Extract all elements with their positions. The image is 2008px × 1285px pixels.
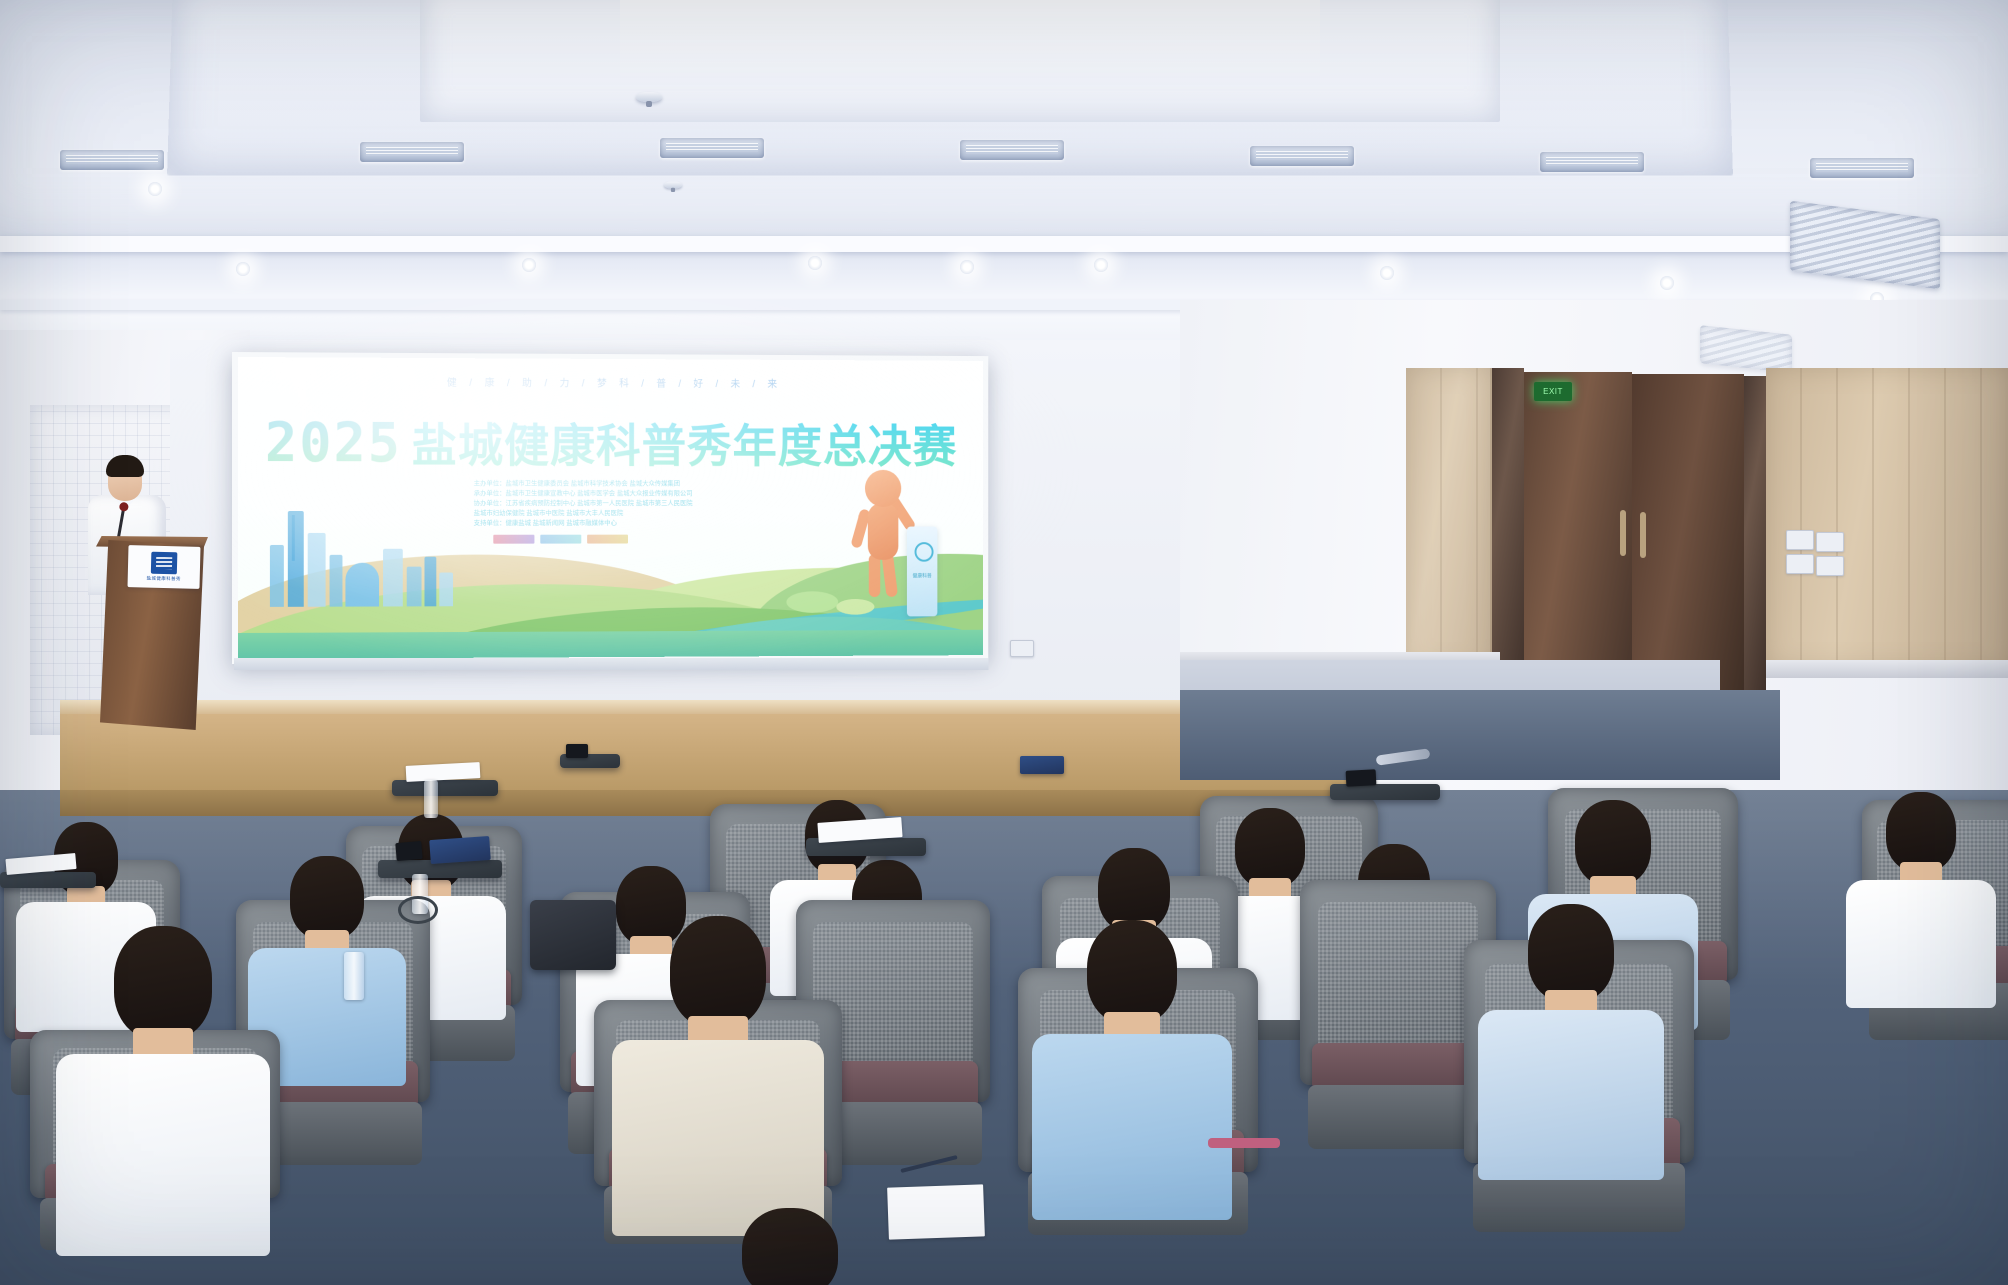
ceiling-coffer-core (620, 0, 1320, 76)
downlight-icon (808, 256, 822, 270)
emblem-logo-icon (151, 552, 178, 575)
podium-plate-text: 盐城健康科普秀 (146, 576, 180, 583)
audience-person (1478, 904, 1664, 1180)
ceiling-vent-icon (60, 150, 164, 170)
slide-city-skyline (266, 487, 454, 607)
person-torso (1478, 1010, 1664, 1180)
wall-outlet-icon[interactable] (1786, 530, 1814, 550)
slide-number-pillar: 健康科普 (907, 527, 937, 617)
stage-right-wall-base (1180, 660, 1720, 740)
mascot-leg-right (882, 553, 898, 597)
podium-nameplate: 盐城健康科普秀 (127, 545, 200, 589)
person-head (670, 916, 766, 1028)
sponsor-line: 盐城市妇幼保健院 盐城市中医院 盐城市大丰人民医院 (474, 509, 794, 519)
person-head (1886, 792, 1956, 872)
slide-sponsor-block: 主办单位：盐城市卫生健康委员会 盐城市科学技术协会 盐城大众传媒集团 承办单位：… (474, 479, 794, 529)
exit-sign-label: EXIT (1543, 387, 1563, 396)
ceiling-vent-icon (1250, 146, 1354, 166)
mascot-body (868, 503, 899, 560)
speaker-hair (106, 455, 144, 477)
tablet-arm-desk[interactable] (0, 872, 96, 888)
ceiling-vent-icon (660, 138, 764, 158)
notebook[interactable] (429, 836, 491, 864)
slide-foreground-band (238, 630, 983, 659)
ceiling-vent-icon (1810, 158, 1914, 178)
person-head (1528, 904, 1614, 1002)
chair-mesh (1318, 902, 1479, 1056)
door-frame-right (1744, 376, 1766, 712)
slide-building (288, 511, 304, 607)
right-wood-panel (1766, 368, 2008, 668)
slide-mascot: 健康科普 (850, 470, 917, 607)
downlight-icon (148, 182, 162, 196)
phone[interactable] (1346, 769, 1377, 787)
slide-building (270, 545, 284, 607)
wall-outlet-icon[interactable] (1010, 640, 1034, 657)
person-head (290, 856, 364, 940)
person-torso (1032, 1034, 1232, 1220)
sponsor-logo-icon (493, 534, 534, 543)
slide-building (439, 573, 453, 607)
exit-sign: EXIT (1534, 382, 1572, 401)
downlight-icon (522, 258, 536, 272)
projection-screen[interactable]: 健康科普 健 / 康 / 助 / 力 / 梦 科 / 普 / 好 / 未 / 来… (238, 357, 983, 659)
smoke-detector-icon (636, 92, 662, 102)
projection-screen-bottom-rail (234, 658, 988, 670)
water-bottle[interactable] (424, 780, 438, 818)
ceiling-band-upper (0, 236, 2008, 252)
person-torso (1846, 880, 1996, 1008)
downlight-icon (960, 260, 974, 274)
ceiling-vent-icon (960, 140, 1064, 160)
slide-building (383, 549, 403, 607)
phone[interactable] (566, 744, 588, 758)
slide-building (407, 567, 422, 607)
slide-title-chinese: 盐城健康科普秀年度总决赛 (412, 420, 958, 472)
sponsor-line: 主办单位：盐城市卫生健康委员会 盐城市科学技术协会 盐城大众传媒集团 (474, 479, 794, 489)
cup-holder (398, 896, 438, 924)
sponsor-line: 协办单位：江苏省疾病预防控制中心 盐城市第一人民医院 盐城市第三人民医院 (474, 499, 794, 509)
audience-person (1846, 792, 1996, 1008)
paper-stack[interactable] (887, 1184, 985, 1239)
audience-person (690, 1208, 890, 1285)
phone[interactable] (395, 841, 422, 861)
downlight-icon (236, 262, 250, 276)
smoke-detector-icon (664, 182, 682, 189)
pillar-badge-ring (915, 542, 934, 562)
slide-dome-building (345, 563, 379, 607)
person-head (1087, 920, 1177, 1024)
slide-building (330, 555, 343, 607)
stage-platform-riser (60, 790, 1350, 816)
sponsor-logo-icon (587, 534, 628, 543)
person-head (1235, 808, 1305, 888)
ceiling-slope (0, 252, 2008, 302)
baseboard (1766, 660, 2008, 678)
audience-person (1032, 920, 1232, 1220)
mascot-leg-left (869, 554, 880, 597)
person-torso (612, 1040, 824, 1236)
slide-tower-spire (292, 515, 295, 561)
conference-room-photo: EXIT (0, 0, 2008, 1285)
ceiling-vent-icon (360, 142, 464, 162)
sponsor-line: 支持单位：健康盐城 盐城新闻网 盐城市融媒体中心 (474, 519, 794, 529)
person-head (114, 926, 212, 1040)
notebook[interactable] (1020, 756, 1064, 774)
right-wood-panel-narrow (1406, 368, 1492, 668)
sponsor-logo-icon (540, 534, 581, 543)
pillar-label: 健康科普 (911, 573, 934, 579)
stage-platform-edge (60, 700, 1350, 714)
person-head (742, 1208, 838, 1285)
sponsor-line: 承办单位：盐城市卫生健康宣教中心 盐城市医学会 盐城大众报业传媒有限公司 (474, 489, 794, 499)
water-bottle[interactable] (344, 952, 364, 1000)
tablet-arm-desk[interactable] (392, 780, 498, 796)
audience-person (56, 926, 270, 1256)
wall-outlet-icon[interactable] (1816, 556, 1844, 576)
slide-building (424, 557, 436, 607)
wall-outlet-icon[interactable] (1816, 532, 1844, 552)
downlight-icon (1660, 276, 1674, 290)
slide-tagline: 健 / 康 / 助 / 力 / 梦 科 / 普 / 好 / 未 / 来 (238, 373, 983, 391)
audience-person (612, 916, 824, 1236)
downlight-icon (1094, 258, 1108, 272)
person-torso (56, 1054, 270, 1256)
chair-seat (1308, 1085, 1488, 1149)
ceiling-vent-icon (1540, 152, 1644, 172)
slide-building (308, 533, 326, 607)
slide-title: 2025盐城健康科普秀年度总决赛 (238, 409, 983, 476)
downlight-icon (1380, 266, 1394, 280)
slide-sponsor-logos (493, 533, 784, 545)
slide-title-year: 2025 (265, 411, 402, 474)
wall-outlet-icon[interactable] (1786, 554, 1814, 574)
